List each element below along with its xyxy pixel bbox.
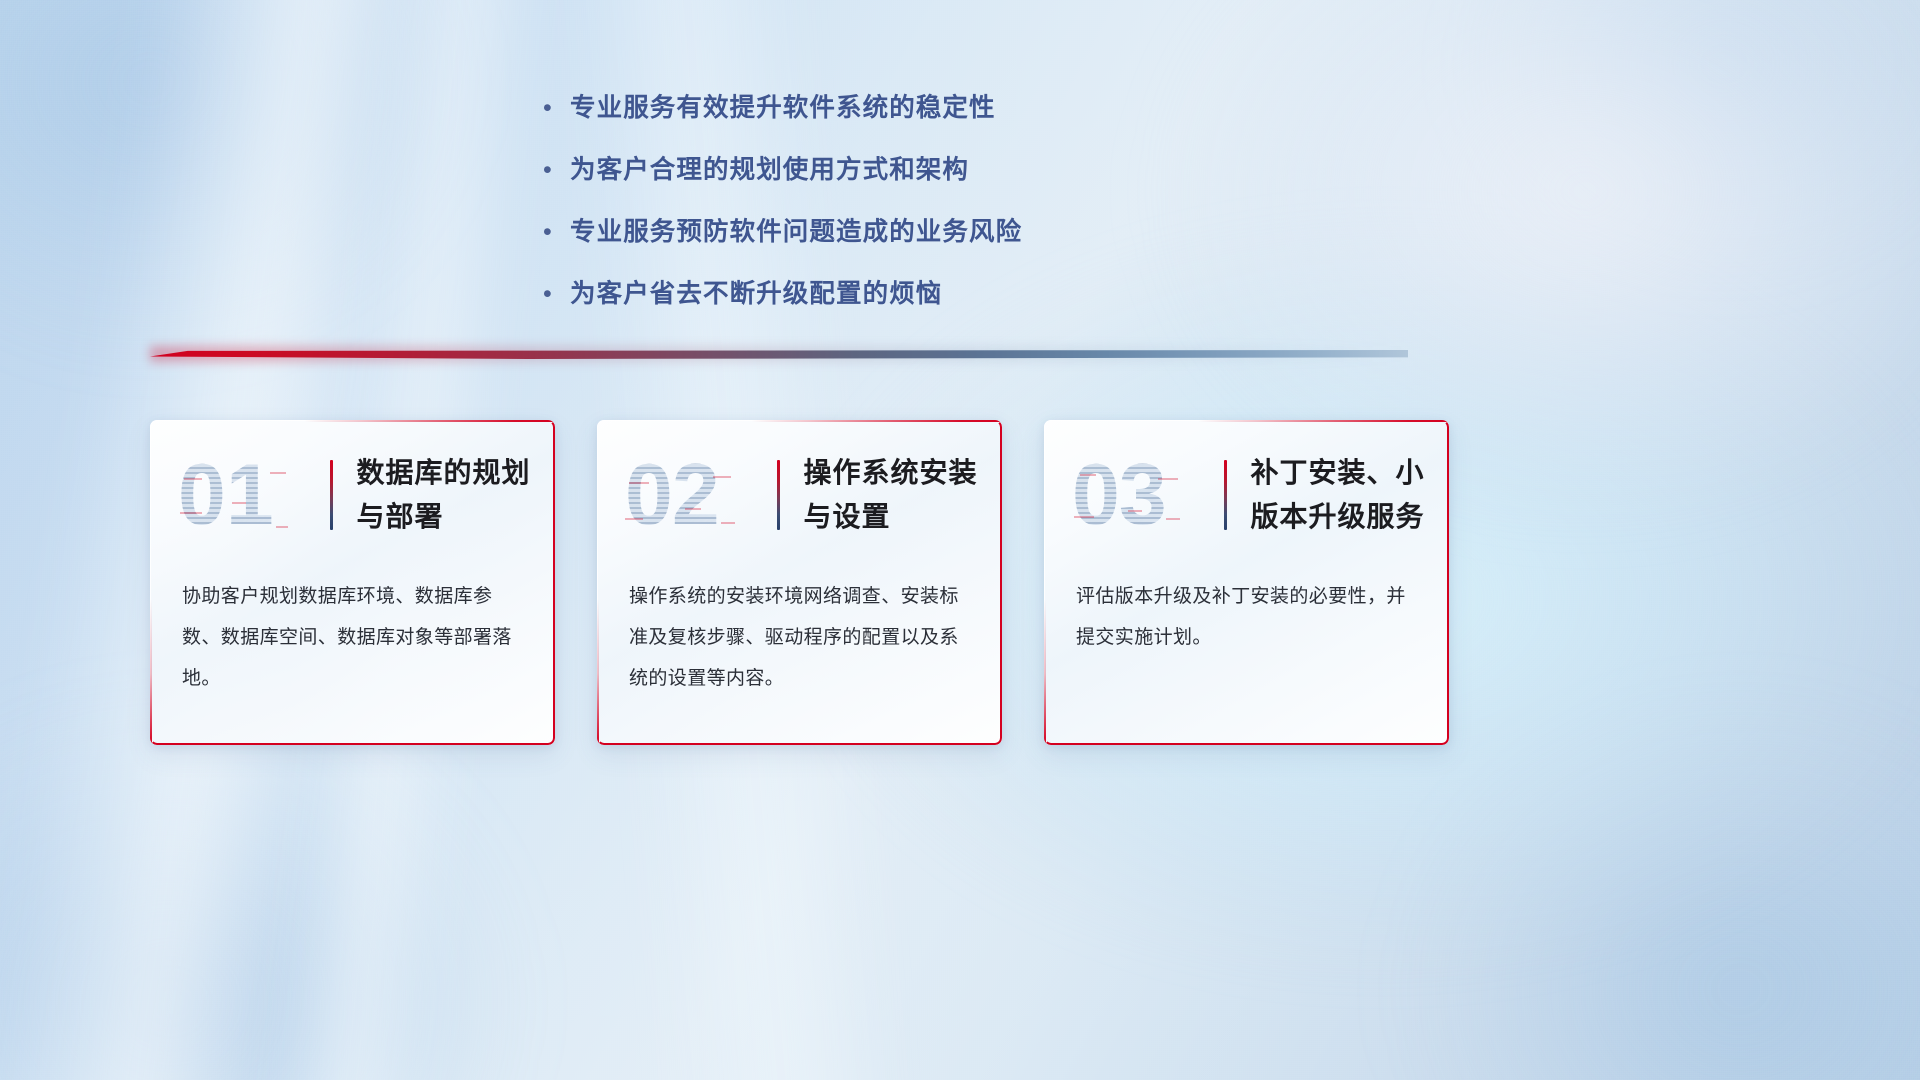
bullet-text: 为客户省去不断升级配置的烦恼	[570, 274, 942, 314]
card-number: 03	[1072, 452, 1224, 538]
bullet-item: • 专业服务预防软件问题造成的业务风险	[536, 212, 1236, 252]
feature-card[interactable]: 03 补丁安装、小版本升级服务 评估版本升级及补丁安装的必要性，并提交实施计划。	[1044, 420, 1449, 745]
card-description: 协助客户规划数据库环境、数据库参数、数据库空间、数据库对象等部署落地。	[150, 570, 555, 699]
bullet-item: • 为客户省去不断升级配置的烦恼	[536, 274, 1236, 314]
card-title-divider	[777, 460, 780, 530]
card-title-divider	[1224, 460, 1227, 530]
card-header: 01 数据库的规划与部署	[150, 420, 555, 570]
divider-line	[150, 350, 1408, 359]
card-description: 评估版本升级及补丁安装的必要性，并提交实施计划。	[1044, 570, 1449, 658]
bullet-item: • 专业服务有效提升软件系统的稳定性	[536, 88, 1236, 128]
bullet-dot-icon: •	[536, 150, 570, 190]
card-title: 操作系统安装与设置	[804, 451, 1003, 539]
card-title: 数据库的规划与部署	[357, 451, 556, 539]
bullet-text: 专业服务预防软件问题造成的业务风险	[570, 212, 1022, 252]
feature-card[interactable]: 02 操作系统安装与设置 操作系统的安装环境网络调查、安装标准及复核步骤、驱动程…	[597, 420, 1002, 745]
card-title: 补丁安装、小版本升级服务	[1251, 451, 1450, 539]
feature-card[interactable]: 01 数据库的规划与部署 协助客户规划数据库环境、数据库参数、数据库空间、数据库…	[150, 420, 555, 745]
card-header: 03 补丁安装、小版本升级服务	[1044, 420, 1449, 570]
bullet-text: 为客户合理的规划使用方式和架构	[570, 150, 969, 190]
card-title-divider	[330, 460, 333, 530]
feature-card-row: 01 数据库的规划与部署 协助客户规划数据库环境、数据库参数、数据库空间、数据库…	[150, 420, 1450, 750]
bullet-list: • 专业服务有效提升软件系统的稳定性 • 为客户合理的规划使用方式和架构 • 专…	[536, 88, 1236, 336]
gradient-divider	[150, 344, 1408, 366]
card-number: 02	[625, 452, 777, 538]
bullet-dot-icon: •	[536, 88, 570, 128]
bullet-dot-icon: •	[536, 212, 570, 252]
card-description: 操作系统的安装环境网络调查、安装标准及复核步骤、驱动程序的配置以及系统的设置等内…	[597, 570, 1002, 699]
bullet-text: 专业服务有效提升软件系统的稳定性	[570, 88, 996, 128]
bullet-item: • 为客户合理的规划使用方式和架构	[536, 150, 1236, 190]
card-header: 02 操作系统安装与设置	[597, 420, 1002, 570]
bullet-dot-icon: •	[536, 274, 570, 314]
card-number: 01	[178, 452, 330, 538]
